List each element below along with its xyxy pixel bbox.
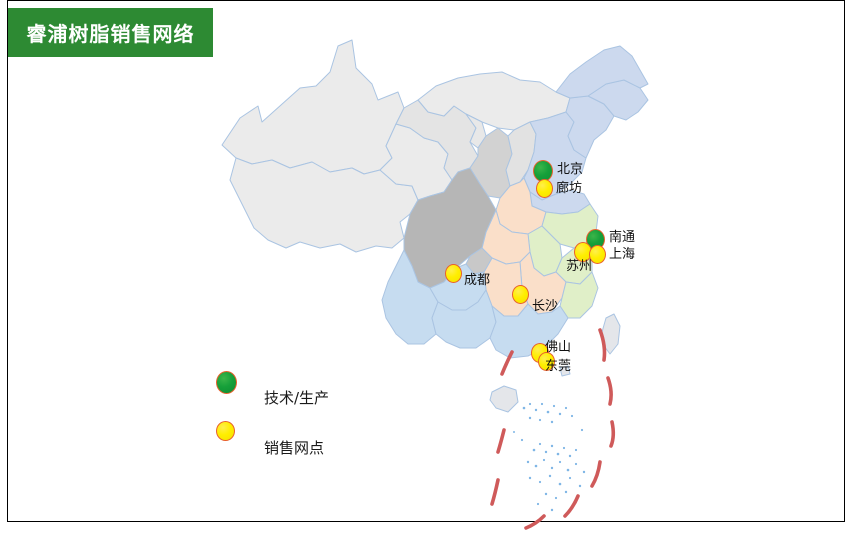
marker-yellow-1[interactable] — [536, 179, 553, 198]
green-dot-icon — [216, 371, 237, 394]
city-label-1: 廊坊 — [556, 182, 582, 195]
city-label-4: 上海 — [609, 248, 635, 261]
china-map — [0, 0, 853, 540]
city-label-5: 成都 — [464, 274, 490, 287]
marker-yellow-6[interactable] — [512, 285, 529, 304]
province-hainan — [490, 386, 518, 412]
legend-label-sales: 销售网点 — [264, 437, 324, 458]
marker-yellow-5[interactable] — [445, 264, 462, 283]
province-xinjiang — [222, 40, 404, 174]
map-canvas: 睿浦树脂销售网络 北京廊坊南通苏州上海成都长沙佛山东莞 技术/生产 销售网点 — [0, 0, 853, 540]
page-title-text: 睿浦树脂销售网络 — [27, 18, 195, 47]
south-sea-islets — [513, 403, 585, 511]
city-label-7: 佛山 — [545, 341, 571, 354]
city-label-6: 长沙 — [532, 300, 558, 313]
city-label-8: 东莞 — [545, 360, 571, 373]
legend-label-production: 技术/生产 — [264, 387, 329, 408]
city-label-2: 南通 — [609, 231, 635, 244]
china-map-svg — [0, 0, 853, 540]
yellow-dot-icon — [216, 421, 235, 441]
page-title: 睿浦树脂销售网络 — [8, 8, 213, 57]
city-label-3: 苏州 — [566, 260, 592, 273]
city-label-0: 北京 — [557, 163, 583, 176]
